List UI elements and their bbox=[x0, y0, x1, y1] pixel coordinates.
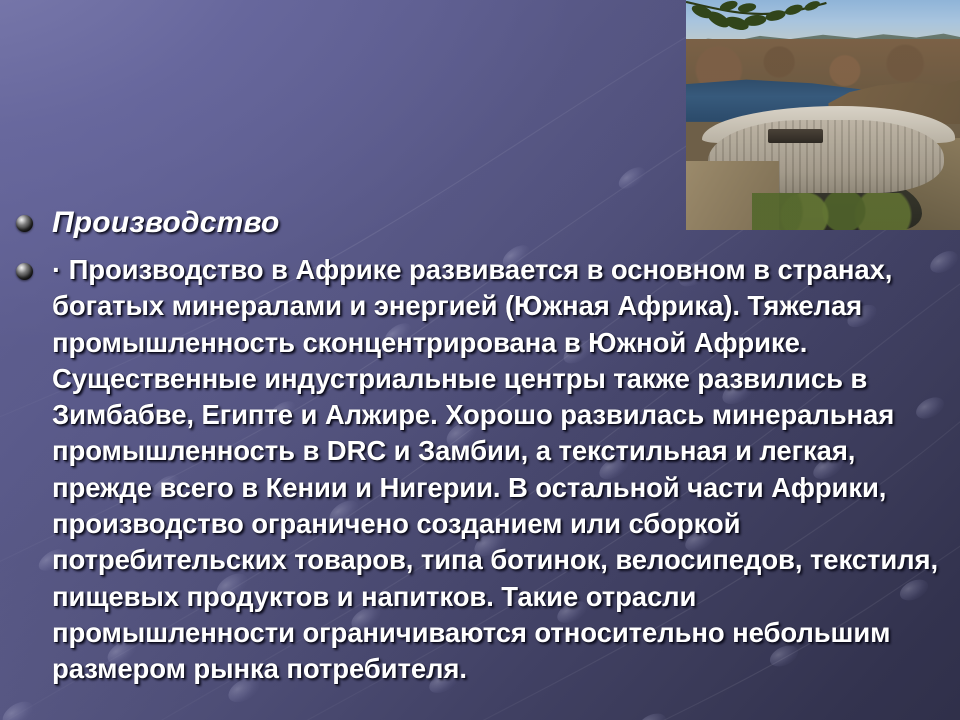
sphere-bullet-icon bbox=[16, 215, 33, 232]
slide-title-row: Производство bbox=[16, 205, 636, 241]
slide-content: Производство · Производство в Африке раз… bbox=[0, 0, 960, 720]
page-title: Производство bbox=[52, 205, 280, 241]
slide-body-row: · Производство в Африке развивается в ос… bbox=[16, 252, 946, 688]
sphere-bullet-icon bbox=[16, 263, 33, 280]
body-paragraph: · Производство в Африке развивается в ос… bbox=[52, 252, 946, 688]
presentation-slide: Производство · Производство в Африке раз… bbox=[0, 0, 960, 720]
